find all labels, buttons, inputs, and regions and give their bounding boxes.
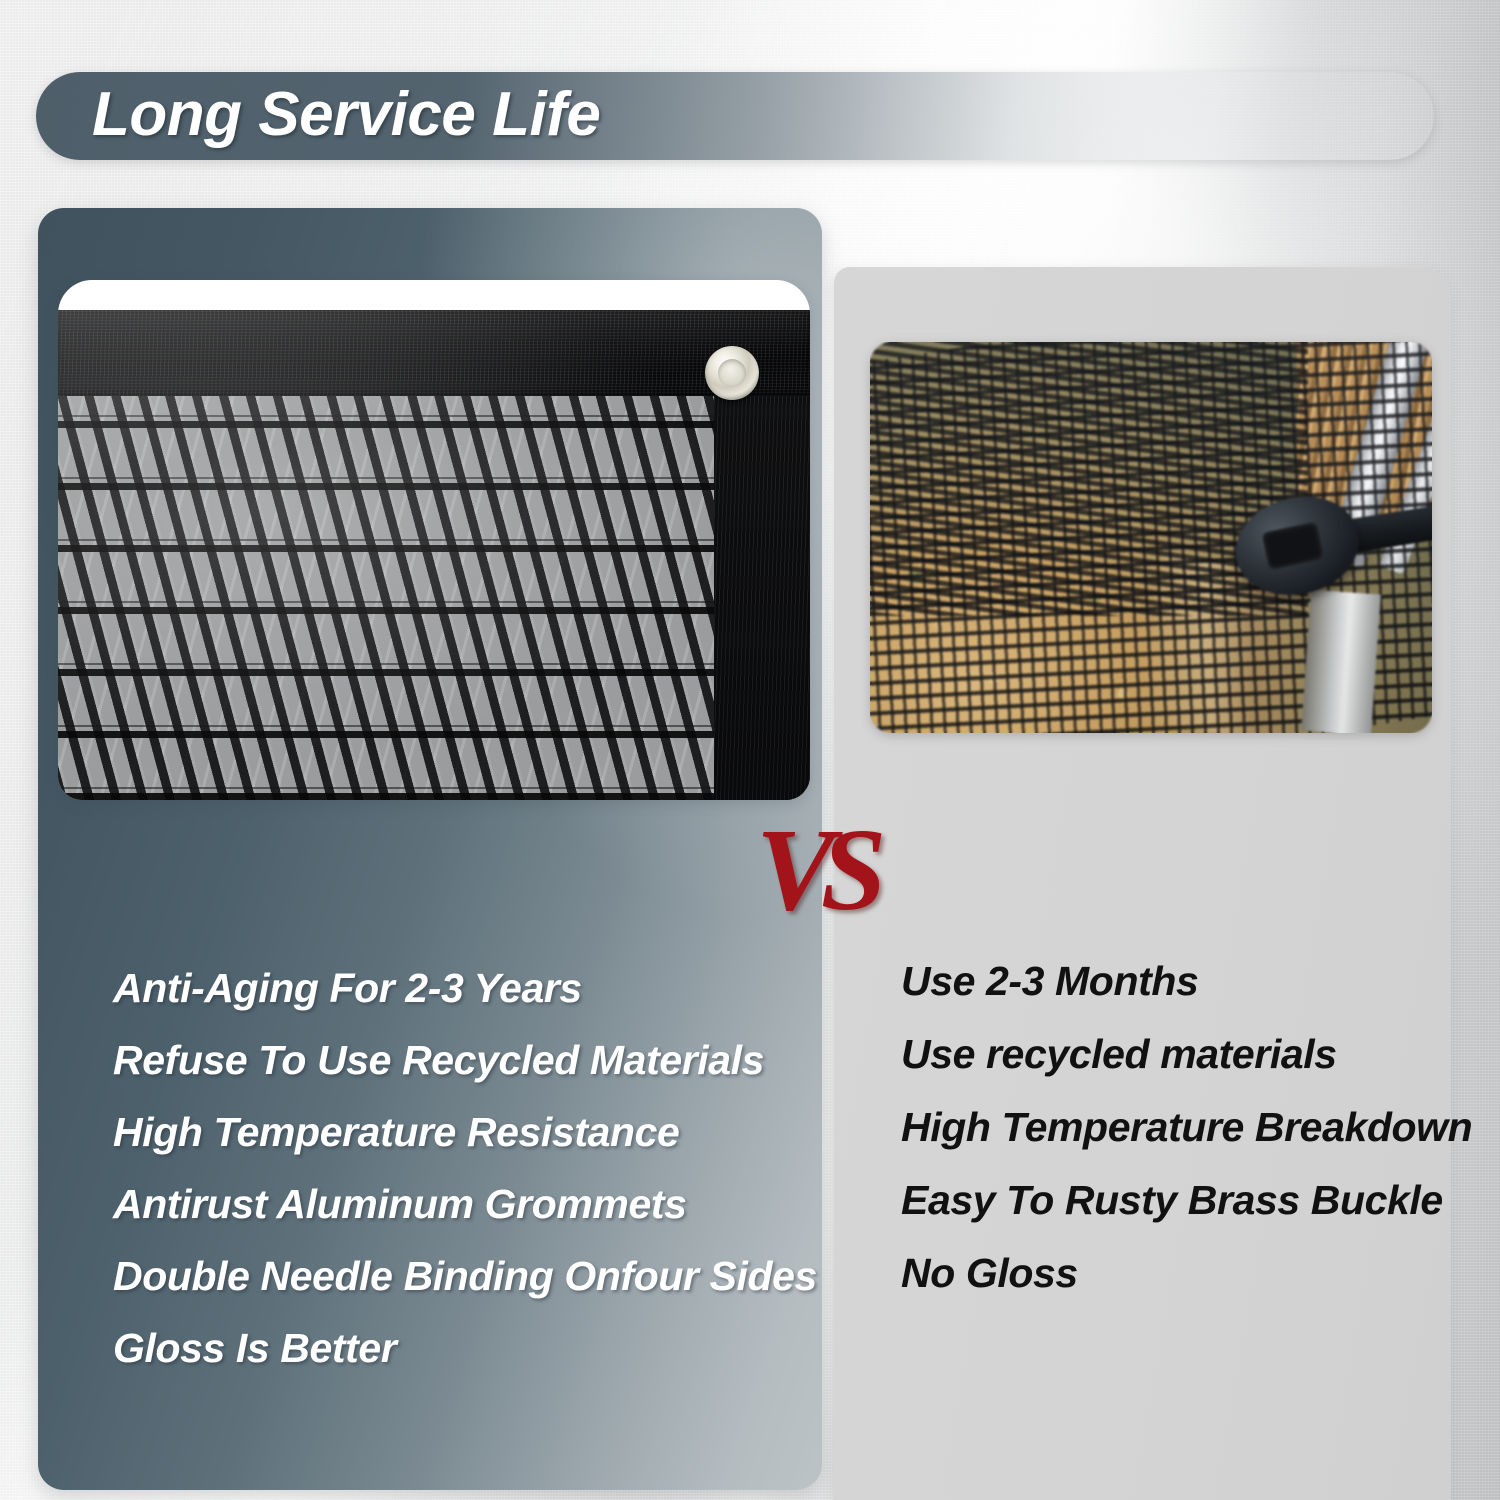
list-item: High Temperature Breakdown xyxy=(901,1091,1481,1164)
panel-right-inferior-product xyxy=(834,267,1451,1500)
list-item: Use recycled materials xyxy=(901,1018,1481,1091)
aluminum-grommet-icon xyxy=(705,346,759,400)
mesh-weave-texture xyxy=(58,396,810,800)
list-item: No Gloss xyxy=(901,1237,1481,1310)
list-item: Double Needle Binding Onfour Sides xyxy=(113,1240,813,1312)
mesh-top-binding-band xyxy=(58,310,810,396)
list-item: Antirust Aluminum Grommets xyxy=(113,1168,813,1240)
worn-net-photo xyxy=(870,342,1432,733)
page-title: Long Service Life xyxy=(92,79,600,150)
list-item: Refuse To Use Recycled Materials xyxy=(113,1024,813,1096)
shade-cloth-mesh-photo xyxy=(58,310,810,800)
list-item: Anti-Aging For 2-3 Years xyxy=(113,952,813,1024)
vs-emblem: VS xyxy=(756,806,896,934)
right-feature-list: Use 2-3 Months Use recycled materials Hi… xyxy=(901,945,1481,1310)
list-item: Easy To Rusty Brass Buckle xyxy=(901,1164,1481,1237)
list-item: Gloss Is Better xyxy=(113,1312,813,1384)
mesh-right-binding xyxy=(714,396,810,800)
left-product-card xyxy=(58,280,810,800)
photo-blur-overlay xyxy=(870,342,1432,733)
list-item: High Temperature Resistance xyxy=(113,1096,813,1168)
list-item: Use 2-3 Months xyxy=(901,945,1481,1018)
infographic-root: Long Service Life xyxy=(0,0,1500,1500)
left-feature-list: Anti-Aging For 2-3 Years Refuse To Use R… xyxy=(113,952,813,1384)
title-banner: Long Service Life xyxy=(36,72,1434,160)
